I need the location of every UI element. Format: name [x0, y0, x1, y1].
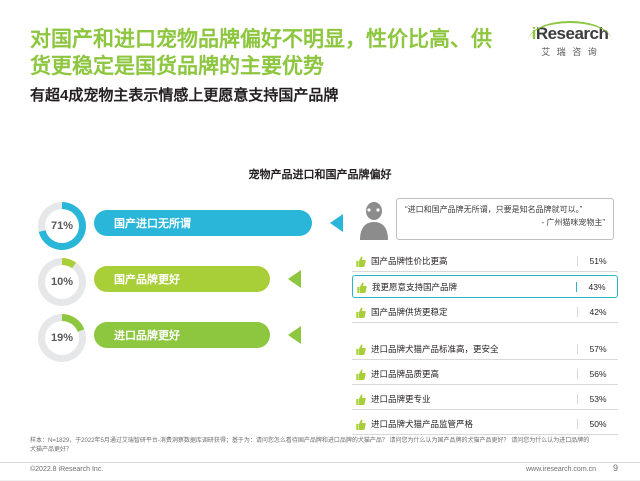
donut-chart-3: 19% [38, 314, 86, 362]
imported-advantages-group: 进口品牌犬猫产品标准高，更安全 57% 进口品牌品质更高 56% 进口品牌更专业… [352, 338, 618, 435]
quote-block: “进口和国产品牌无所谓，只要是知名品牌就可以。” - 广州猫咪宠物主” [352, 198, 618, 246]
thumbs-up-icon [356, 306, 366, 318]
stat-row: 进口品牌品质更高 56% [352, 363, 618, 385]
footnote: 样本：N=1829，于2022年5月通过艾瑞智研平台-消费洞察数据库调研获得；基… [30, 437, 590, 455]
preference-row: 19% 进口品牌更好 [30, 312, 330, 368]
thumbs-up-icon [356, 368, 366, 380]
slide: 对国产和进口宠物品牌偏好不明显，性价比高、供货更稳定是国货品牌的主要优势 有超4… [0, 0, 640, 480]
page-number: 9 [613, 463, 618, 473]
stat-label: 进口品牌更专业 [371, 393, 577, 405]
person-avatar-icon [356, 200, 392, 240]
preference-label-3: 进口品牌更好 [94, 327, 180, 343]
logo-subtext: 艾 瑞 咨 询 [522, 45, 618, 58]
preference-bar-2: 国产品牌更好 [94, 266, 270, 292]
quote-text: “进口和国产品牌无所谓，只要是知名品牌就可以。” [405, 204, 605, 216]
quote-bubble: “进口和国产品牌无所谓，只要是知名品牌就可以。” - 广州猫咪宠物主” [396, 198, 614, 240]
stat-label: 国产品牌性价比更高 [371, 255, 577, 267]
arrow-icon-1 [330, 214, 343, 232]
stat-row: 国产品牌性价比更高 51% [352, 250, 618, 272]
stat-value: 51% [577, 256, 618, 266]
thumbs-up-icon [356, 343, 366, 355]
thumbs-up-icon [356, 418, 366, 430]
title-block: 对国产和进口宠物品牌偏好不明显，性价比高、供货更稳定是国货品牌的主要优势 有超4… [30, 26, 500, 106]
stat-label: 国产品牌供货更稳定 [371, 306, 577, 318]
arrow-icon-2 [288, 270, 301, 288]
preference-row: 71% 国产进口无所谓 [30, 200, 330, 256]
preference-bar-1: 国产进口无所谓 [94, 210, 312, 236]
stat-label: 我更愿意支持国产品牌 [372, 281, 576, 293]
stat-label: 进口品牌犬猫产品标准高，更安全 [371, 343, 577, 355]
page-subtitle: 有超4成宠物主表示情感上更愿意支持国产品牌 [30, 86, 500, 106]
preference-label-1: 国产进口无所谓 [94, 215, 191, 231]
stat-row: 进口品牌犬猫产品标准高，更安全 57% [352, 338, 618, 360]
donut-value-3: 19% [38, 314, 86, 362]
thumbs-up-icon [356, 393, 366, 405]
iresearch-logo: iiResearchResearch 艾 瑞 咨 询 [522, 24, 618, 58]
stat-row: 国产品牌供货更稳定 42% [352, 301, 618, 323]
thumbs-up-icon [357, 281, 367, 293]
stat-value: 56% [577, 369, 618, 379]
stat-value: 42% [577, 307, 618, 317]
group-divider [352, 326, 618, 334]
preference-row: 10% 国产品牌更好 [30, 256, 330, 312]
donut-chart-1: 71% [38, 202, 86, 250]
donut-value-1: 71% [38, 202, 86, 250]
donut-value-2: 10% [38, 258, 86, 306]
quote-author: - 广州猫咪宠物主” [405, 217, 605, 228]
website-url: www.iresearch.com.cn [526, 466, 596, 473]
chart-title: 宠物产品进口和国产品牌偏好 [0, 166, 640, 182]
stat-value: 57% [577, 344, 618, 354]
thumbs-up-icon [356, 255, 366, 267]
page-title: 对国产和进口宠物品牌偏好不明显，性价比高、供货更稳定是国货品牌的主要优势 [30, 26, 500, 80]
domestic-advantages-group: 国产品牌性价比更高 51% 我更愿意支持国产品牌 43% 国产品牌供货更稳定 4… [352, 250, 618, 323]
copyright-text: ©2022.8 iResearch Inc. [30, 466, 103, 473]
stat-row: 进口品牌犬猫产品监管严格 50% [352, 413, 618, 435]
arrow-icon-3 [288, 326, 301, 344]
preference-bar-3: 进口品牌更好 [94, 322, 270, 348]
stat-label: 进口品牌品质更高 [371, 368, 577, 380]
stat-row-highlighted: 我更愿意支持国产品牌 43% [352, 275, 618, 298]
detail-panel: “进口和国产品牌无所谓，只要是知名品牌就可以。” - 广州猫咪宠物主” 国产品牌… [352, 198, 618, 438]
donut-chart-2: 10% [38, 258, 86, 306]
stat-value: 43% [576, 282, 617, 292]
stat-label: 进口品牌犬猫产品监管严格 [371, 418, 577, 430]
stat-value: 53% [577, 394, 618, 404]
stat-row: 进口品牌更专业 53% [352, 388, 618, 410]
stat-value: 50% [577, 419, 618, 429]
preference-label-2: 国产品牌更好 [94, 271, 180, 287]
preference-list: 71% 国产进口无所谓 10% 国产品牌更好 19% 进口品牌更好 [30, 200, 330, 368]
